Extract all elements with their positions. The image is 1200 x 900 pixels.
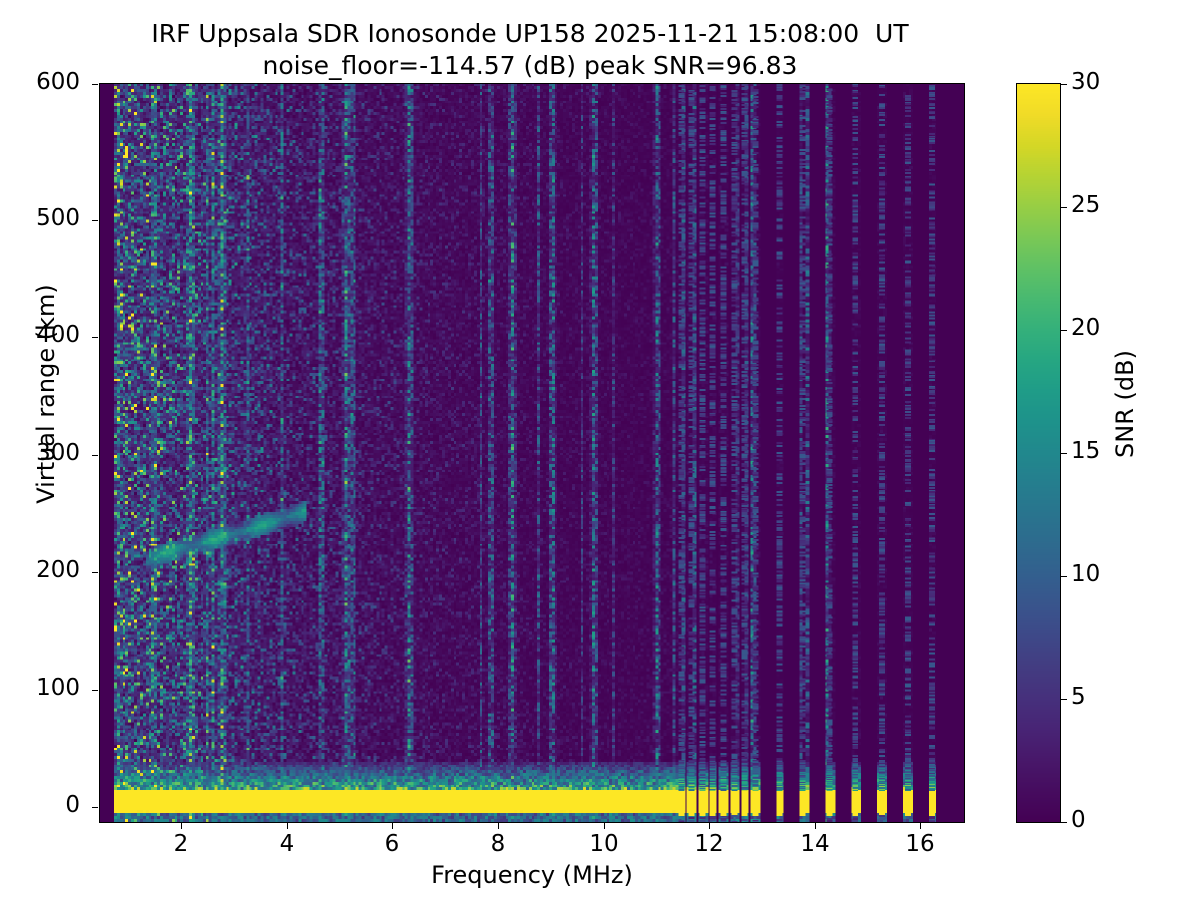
x-tick-label: 16 [890,831,950,857]
y-tick-label: 500 [0,205,80,231]
y-tick-label: 200 [0,557,80,583]
y-tick-label: 600 [0,69,80,95]
colorbar-tick-mark [1061,84,1067,85]
y-tick-mark [92,572,98,573]
y-tick-mark [92,455,98,456]
y-axis-label: Virtual range (km) [32,274,60,514]
colorbar-tick-label: 25 [1071,192,1141,218]
x-tick-label: 14 [785,831,845,857]
y-tick-mark [92,690,98,691]
colorbar-tick-mark [1061,207,1067,208]
colorbar-tick-label: 5 [1071,684,1141,710]
colorbar-tick-label: 0 [1071,807,1141,833]
x-tick-mark [181,823,182,829]
x-tick-label: 4 [257,831,317,857]
y-tick-mark [92,220,98,221]
colorbar-tick-mark [1061,453,1067,454]
x-tick-label: 2 [151,831,211,857]
x-tick-mark [498,823,499,829]
title-line-1: IRF Uppsala SDR Ionosonde UP158 2025-11-… [0,18,1060,50]
y-tick-label: 0 [0,792,80,818]
colorbar-tick-mark [1061,576,1067,577]
colorbar-tick-label: 30 [1071,69,1141,95]
colorbar [1016,83,1061,823]
ionogram-plot-area [99,83,965,823]
x-tick-mark [709,823,710,829]
title-line-2: noise_floor=-114.57 (dB) peak SNR=96.83 [0,50,1060,82]
colorbar-tick-mark [1061,330,1067,331]
y-tick-label: 100 [0,675,80,701]
colorbar-label: SNR (dB) [1111,279,1139,529]
x-tick-label: 10 [574,831,634,857]
x-tick-mark [392,823,393,829]
y-tick-mark [92,807,98,808]
x-tick-mark [920,823,921,829]
colorbar-gradient [1017,84,1060,822]
x-tick-mark [604,823,605,829]
x-tick-label: 6 [362,831,422,857]
ionogram-heatmap [100,84,964,822]
colorbar-tick-label: 10 [1071,561,1141,587]
y-tick-mark [92,337,98,338]
y-tick-mark [92,84,98,85]
colorbar-tick-mark [1061,822,1067,823]
x-tick-mark [287,823,288,829]
x-tick-label: 8 [468,831,528,857]
x-tick-label: 12 [679,831,739,857]
ionogram-figure: IRF Uppsala SDR Ionosonde UP158 2025-11-… [0,0,1200,900]
figure-title: IRF Uppsala SDR Ionosonde UP158 2025-11-… [0,18,1060,82]
colorbar-tick-mark [1061,699,1067,700]
x-tick-mark [815,823,816,829]
x-axis-label: Frequency (MHz) [99,861,965,889]
